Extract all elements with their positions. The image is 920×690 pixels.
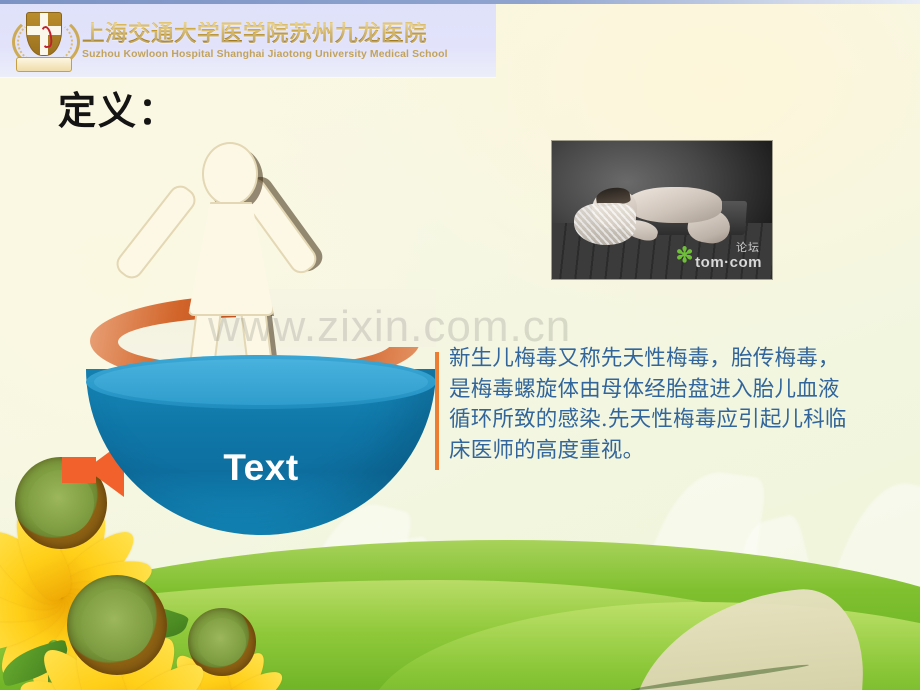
body-paragraph: 新生儿梅毒又称先天性梅毒，胎传梅毒，是梅毒螺旋体由母体经胎盘进入胎儿血液循环所致…	[449, 344, 849, 466]
accent-bar	[435, 352, 439, 470]
photo-watermark-en: tom·com	[695, 254, 762, 271]
concept-graphic: Text	[86, 140, 436, 540]
photo-watermark-cn: 论坛	[736, 239, 760, 255]
person-arms-raised-icon	[126, 142, 336, 372]
hospital-name-cn: 上海交通大学医学院苏州九龙医院	[82, 22, 496, 46]
sunflower-icon	[12, 520, 222, 690]
slide-title: 定义：	[58, 92, 178, 130]
blue-dome-bowl-icon: Text	[86, 355, 436, 535]
newborn-baby-photo: ✻ 论坛 tom·com	[552, 141, 772, 279]
hospital-header-banner: 上海交通大学医学院苏州九龙医院 Suzhou Kowloon Hospital …	[0, 4, 496, 78]
watermark-star-icon: ✻	[675, 246, 694, 265]
hospital-name-en: Suzhou Kowloon Hospital Shanghai Jiaoton…	[82, 49, 496, 60]
hospital-crest-icon	[10, 9, 76, 73]
bowl-label: Text	[86, 447, 436, 489]
presentation-slide: 上海交通大学医学院苏州九龙医院 Suzhou Kowloon Hospital …	[0, 0, 920, 690]
